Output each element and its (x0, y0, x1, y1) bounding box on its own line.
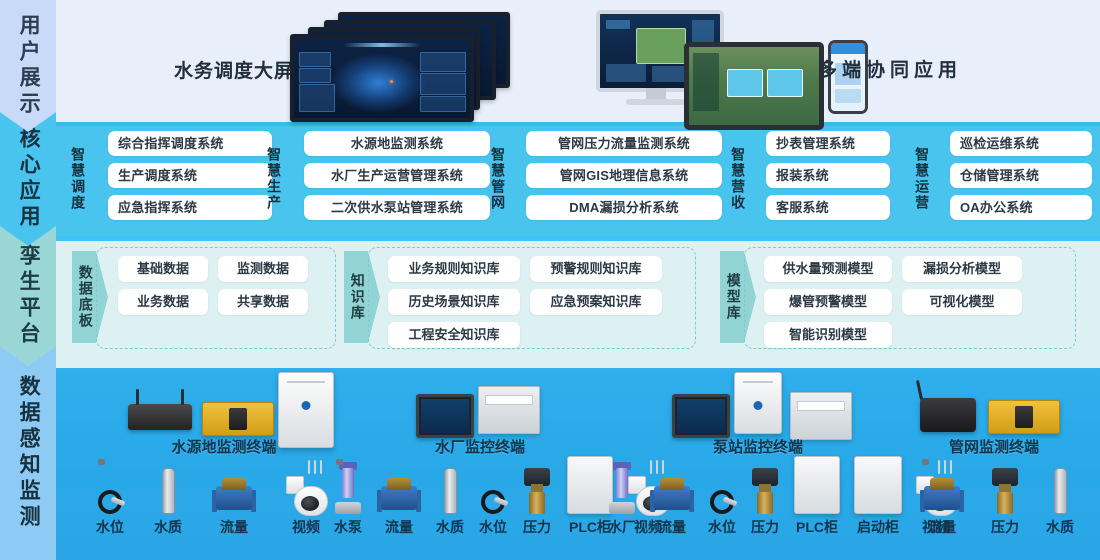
terminal-label: 管网监测终端 (902, 436, 1086, 457)
twin-item[interactable]: 爆管预警模型 (764, 289, 892, 315)
sensor-row-water-source: 水位 水质 流量 视频 (96, 464, 326, 537)
dtu-antenna-icon (920, 398, 976, 432)
bigscreen-panel-1 (290, 34, 474, 122)
core-app-item[interactable]: 仓储管理系统 (950, 163, 1092, 188)
tablet-icon (684, 42, 824, 130)
sensor-item[interactable]: 水位 (96, 464, 124, 537)
sensor-label: 流量 (385, 517, 413, 537)
core-app-item[interactable]: 客服系统 (766, 195, 890, 220)
sensor-item[interactable]: 流量 (212, 464, 256, 537)
core-group-operation: 智慧运营 巡检运维系统 仓储管理系统 OA办公系统 (904, 122, 1100, 236)
sensor-label: 水泵 (334, 517, 362, 537)
sensor-item[interactable]: 水厂 (608, 464, 636, 537)
sensor-item[interactable]: 水质 (436, 464, 464, 537)
sensor-label: 流量 (220, 517, 248, 537)
sensor-label: 流量 (658, 517, 686, 537)
control-panel-icon (478, 386, 540, 434)
plc-cabinet-icon (734, 372, 782, 434)
twin-group-data-base: 数据底板 基础数据 监测数据 业务数据 共享数据 (72, 247, 338, 357)
sensor-item[interactable]: PLC柜 (794, 464, 840, 537)
sensor-item[interactable]: 水泵 (334, 464, 362, 537)
sensor-label: 流量 (928, 517, 956, 537)
terminal-group-water-plant: 水厂监控终端 (400, 372, 560, 448)
ribbon-item-twin[interactable]: 孪生平台 (0, 226, 56, 366)
sensor-label: 水位 (708, 517, 736, 537)
display-layer-content: 水务调度大屏 (56, 0, 1100, 122)
core-group-label: 智慧生产 (266, 147, 281, 211)
twin-item[interactable]: 共享数据 (218, 289, 308, 315)
core-app-item[interactable]: 水源地监测系统 (304, 131, 490, 156)
twin-layer-content: 数据底板 基础数据 监测数据 业务数据 共享数据 知识库 业务规则知识库 预警规… (56, 241, 1100, 368)
core-app-item[interactable]: 巡检运维系统 (950, 131, 1092, 156)
sensor-item[interactable]: 流量 (920, 464, 964, 537)
core-app-item[interactable]: 生产调度系统 (108, 163, 272, 188)
sensor-label: 水质 (436, 517, 464, 537)
core-app-item[interactable]: 抄表管理系统 (766, 131, 890, 156)
hmi-panel-icon (416, 394, 474, 438)
sensor-label: 水质 (1046, 517, 1074, 537)
ribbon-item-display[interactable]: 用户展示 (0, 0, 56, 132)
twin-group-label: 知识库 (349, 273, 364, 321)
core-app-item[interactable]: DMA漏损分析系统 (526, 195, 722, 220)
sensor-row-pipeline: 流量 压力 水质 (920, 464, 1074, 537)
sensor-item[interactable]: PLC柜 (567, 464, 613, 537)
twin-item[interactable]: 漏损分析模型 (902, 256, 1022, 282)
twin-item[interactable]: 监测数据 (218, 256, 308, 282)
pressure-sensor-icon (750, 464, 780, 514)
sensor-label: 压力 (991, 517, 1019, 537)
pump-icon (335, 464, 361, 514)
rtu-yellow-box-icon (988, 400, 1060, 434)
sensor-item[interactable]: 视频 (286, 464, 326, 537)
twin-item[interactable]: 应急预案知识库 (530, 289, 662, 315)
ptz-camera-icon (286, 464, 326, 514)
core-app-item[interactable]: 综合指挥调度系统 (108, 131, 272, 156)
core-app-item[interactable]: 应急指挥系统 (108, 195, 272, 220)
ribbon-item-core[interactable]: 核心应用 (0, 112, 56, 246)
twin-item[interactable]: 基础数据 (118, 256, 208, 282)
sensor-label: 水位 (96, 517, 124, 537)
water-level-cable-icon (481, 464, 505, 514)
core-layer-content: 智慧调度 综合指挥调度系统 生产调度系统 应急指挥系统 智慧生产 水源地监测系统… (56, 122, 1100, 236)
sensor-item[interactable]: 水质 (1046, 464, 1074, 537)
pump-icon (609, 464, 635, 514)
core-app-item[interactable]: 管网GIS地理信息系统 (526, 163, 722, 188)
sensor-label: 水质 (154, 517, 182, 537)
terminal-label: 水厂监控终端 (390, 436, 570, 457)
twin-item[interactable]: 可视化模型 (902, 289, 1022, 315)
twin-item[interactable]: 智能识别模型 (764, 322, 892, 348)
flow-meter-icon (650, 464, 694, 514)
sensor-label: PLC柜 (796, 517, 838, 537)
core-group-dispatch: 智慧调度 综合指挥调度系统 生产调度系统 应急指挥系统 (60, 122, 278, 236)
sensor-label: 水厂 (608, 517, 636, 537)
router-icon (128, 404, 192, 430)
bigscreen-label: 水务调度大屏 (174, 56, 294, 83)
sensor-label: 压力 (523, 517, 551, 537)
sensor-item[interactable]: 压力 (522, 464, 552, 537)
sensor-label: 视频 (292, 517, 320, 537)
pressure-sensor-icon (522, 464, 552, 514)
sensor-item[interactable]: 启动柜 (854, 464, 902, 537)
water-quality-probe-icon (444, 464, 457, 514)
desktop-tablet-phone-icon (596, 10, 816, 114)
core-group-revenue: 智慧营收 抄表管理系统 报装系统 客服系统 (720, 122, 906, 236)
terminal-label: 水源地监测终端 (114, 436, 334, 457)
dashboard-video-wall-icon (286, 12, 506, 112)
terminal-label: 泵站监控终端 (660, 436, 856, 457)
core-group-label: 智慧运营 (914, 147, 929, 211)
architecture-diagram: 用户展示 核心应用 孪生平台 数据感知监测 水务调度大屏 (0, 0, 1100, 560)
ribbon-label-display: 用户展示 (17, 14, 39, 118)
twin-group-knowledge-base: 知识库 业务规则知识库 预警规则知识库 历史场景知识库 应急预案知识库 工程安全… (344, 247, 696, 357)
sensor-item[interactable]: 流量 (377, 464, 421, 537)
core-app-item[interactable]: OA办公系统 (950, 195, 1092, 220)
core-app-item[interactable]: 管网压力流量监测系统 (526, 131, 722, 156)
twin-group-model-base: 模型库 供水量预测模型 漏损分析模型 爆管预警模型 可视化模型 智能识别模型 (720, 247, 1076, 357)
twin-item[interactable]: 历史场景知识库 (388, 289, 520, 315)
sensor-item[interactable]: 压力 (990, 464, 1020, 537)
sense-layer-content: 水源地监测终端 水位 水质 流量 视频 水厂监控终端 (0, 368, 1100, 560)
twin-item[interactable]: 供水量预测模型 (764, 256, 892, 282)
core-group-label: 智慧调度 (70, 147, 85, 211)
rtu-yellow-box-icon (202, 402, 274, 436)
twin-item[interactable]: 预警规则知识库 (530, 256, 662, 282)
ribbon-label-core: 核心应用 (17, 127, 39, 231)
twin-item[interactable]: 业务数据 (118, 289, 208, 315)
sensor-item[interactable]: 水位 (708, 464, 736, 537)
core-app-item[interactable]: 二次供水泵站管理系统 (304, 195, 490, 220)
plc-cabinet-icon (567, 464, 613, 514)
core-group-label: 智慧管网 (490, 147, 505, 211)
multiend-label: 多端协同应用 (818, 55, 962, 82)
hmi-panel-icon (672, 394, 730, 438)
twin-item[interactable]: 工程安全知识库 (388, 322, 520, 348)
monitor-stand-base (626, 99, 686, 105)
core-app-item[interactable]: 水厂生产运营管理系统 (304, 163, 490, 188)
terminal-group-pump-station: 泵站监控终端 (668, 372, 848, 448)
ribbon-label-twin: 孪生平台 (17, 244, 39, 348)
flow-meter-icon (212, 464, 256, 514)
plc-cabinet-icon (794, 464, 840, 514)
flow-meter-icon (377, 464, 421, 514)
sensor-item[interactable]: 压力 (750, 464, 780, 537)
control-panel-icon (790, 392, 852, 440)
sensor-item[interactable]: 流量 (650, 464, 694, 537)
pressure-sensor-icon (990, 464, 1020, 514)
twin-group-label: 数据底板 (77, 265, 92, 329)
water-quality-probe-icon (1054, 464, 1067, 514)
twin-group-label: 模型库 (725, 273, 740, 321)
core-app-item[interactable]: 报装系统 (766, 163, 890, 188)
terminal-group-water-source: 水源地监测终端 (120, 372, 330, 448)
sensor-item[interactable]: 水质 (154, 464, 182, 537)
core-group-label: 智慧营收 (730, 147, 745, 211)
water-level-cable-icon (98, 464, 122, 514)
core-group-production: 智慧生产 水源地监测系统 水厂生产运营管理系统 二次供水泵站管理系统 (256, 122, 496, 236)
sensor-row-pump-station: 水厂 流量 水位 压力 PLC柜 启动柜 (608, 464, 956, 537)
sensor-label: 水位 (479, 517, 507, 537)
water-level-cable-icon (710, 464, 734, 514)
twin-item[interactable]: 业务规则知识库 (388, 256, 520, 282)
starter-cabinet-icon (854, 464, 902, 514)
sensor-label: PLC柜 (569, 517, 611, 537)
core-group-pipeline: 智慧管网 管网压力流量监测系统 管网GIS地理信息系统 DMA漏损分析系统 (480, 122, 730, 236)
terminal-group-pipeline: 管网监测终端 (910, 372, 1078, 448)
sensor-label: 压力 (751, 517, 779, 537)
sensor-label: 启动柜 (857, 517, 899, 537)
flow-meter-icon (920, 464, 964, 514)
sensor-item[interactable]: 水位 (479, 464, 507, 537)
water-quality-probe-icon (162, 464, 175, 514)
